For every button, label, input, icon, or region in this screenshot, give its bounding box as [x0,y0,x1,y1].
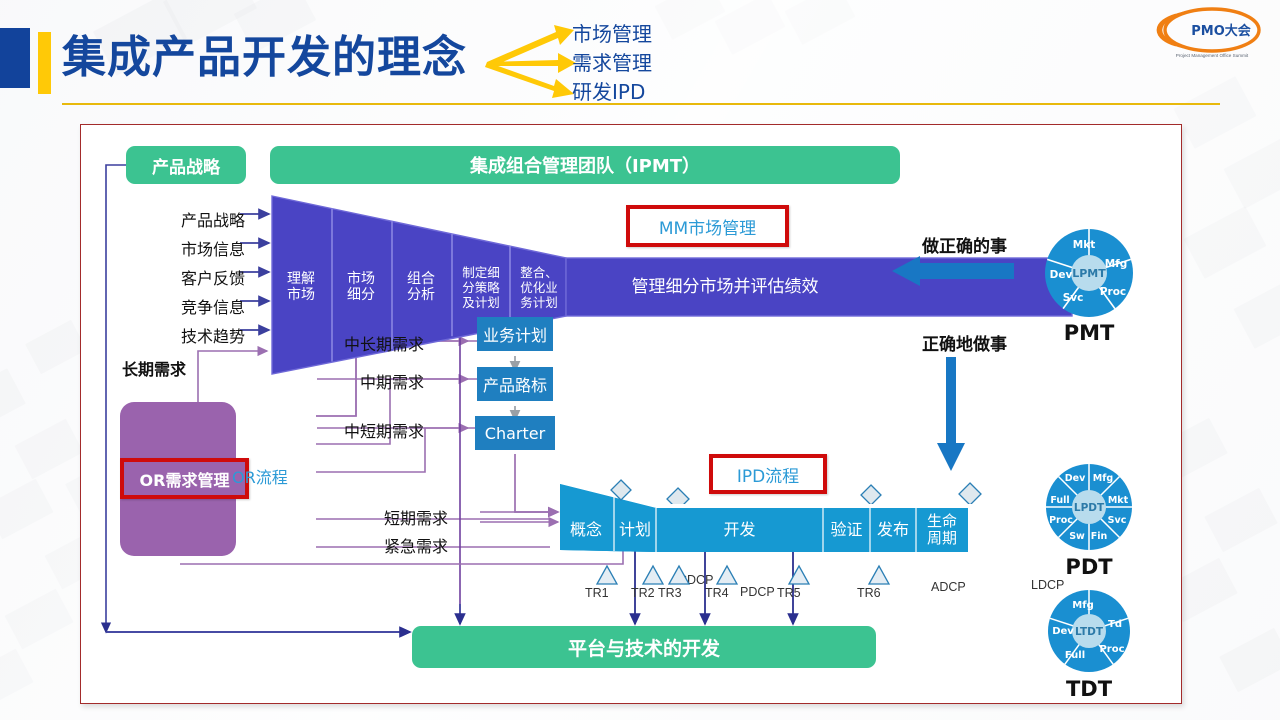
or-callout-label: OR需求管理 [140,467,230,491]
platform-technology-bar[interactable]: 平台与技术的开发 [412,626,876,668]
mm-input-3: 竞争信息 [135,293,245,322]
doc-business-plan-label: 业务计划 [483,322,547,346]
tr-label-0: TR1 [585,586,609,600]
mm-callout-box[interactable]: MM市场管理 [626,205,789,247]
arrow-down-big [935,355,967,475]
or-callout[interactable]: OR需求管理 [120,458,249,499]
arrow-left-big [890,255,1016,287]
doc-charter-label: Charter [485,424,545,443]
mm-input-0: 产品战略 [135,206,245,235]
header-yellow-bar [38,32,51,94]
tdt-seg-3: Full [1065,650,1085,661]
header-bullet-0: 市场管理 [572,20,652,49]
logo-mark-text: PMO大会 [1191,23,1252,39]
diagram-stage: 产品战略 集成组合管理团队（IPMT） 产品战略 市场信息 客户反馈 竞争信息 … [80,124,1180,702]
tdt-seg-1: Td [1108,619,1122,630]
pmt-wheel-graphic: LPMT Mkt Mfg Proc Svc Dev [1030,228,1148,318]
tdt-seg-2: Proc [1099,644,1124,655]
logo-subtitle-text: Project Management Office Summit [1176,53,1249,58]
product-strategy-label: 产品战略 [152,153,220,178]
ipmt-bar[interactable]: 集成组合管理团队（IPMT） [270,146,900,184]
tdt-name-label: TDT [1030,677,1148,701]
pdt-seg-0: Dev [1065,473,1086,484]
team-wheel-pmt[interactable]: LPMT Mkt Mfg Proc Svc Dev PMT [1030,228,1148,345]
pmt-seg-4: Dev [1050,269,1073,281]
tdt-seg-0: Mfg [1072,600,1093,611]
pmo-summit-logo: PMO大会 Project Management Office Summit [1148,4,1274,62]
mm-input-labels: 产品战略 市场信息 客户反馈 竞争信息 技术趋势 [135,206,245,351]
doc-product-roadmap-label: 产品路标 [483,372,547,396]
demand-label-4: 紧急需求 [384,533,448,557]
header-arrow-group [484,18,580,110]
demand-label-2: 中短期需求 [344,418,424,442]
note-do-things-right: 正确地做事 [922,330,1007,355]
ipmt-label: 集成组合管理团队（IPMT） [470,152,700,178]
pdt-seg-4: Fin [1091,531,1108,542]
or-flow-label: OR流程 [232,464,288,488]
header-bullet-1: 需求管理 [572,49,652,78]
header-blue-block [0,28,30,88]
team-wheel-pdt[interactable]: LPDT Dev Mfg Mkt Svc Fin Sw Proc Full PD… [1030,462,1148,579]
pmt-name-label: PMT [1030,321,1148,345]
demand-label-1: 中期需求 [360,369,424,393]
tr-label-3: TR4 [705,586,729,600]
team-wheel-tdt[interactable]: LTDT Mfg Td Proc Full Dev TDT [1030,588,1148,701]
pdt-seg-3: Svc [1108,515,1127,526]
pdt-seg-5: Sw [1069,531,1085,542]
note-do-right-things: 做正确的事 [922,232,1007,257]
tr-label-1: TR2 [631,586,655,600]
pdt-seg-2: Mkt [1108,495,1129,506]
doc-product-roadmap[interactable]: 产品路标 [477,367,553,401]
mm-input-2: 客户反馈 [135,264,245,293]
platform-technology-label: 平台与技术的开发 [568,634,720,661]
header-bullet-2: 研发IPD [572,78,652,107]
mm-callout-label: MM市场管理 [659,214,756,239]
tdt-center-label: LTDT [1075,626,1104,638]
pmt-center-label: LPMT [1072,267,1106,280]
page-title: 集成产品开发的理念 [62,28,467,88]
tr-label-5: TR6 [857,586,881,600]
demand-label-3: 短期需求 [384,505,448,529]
pdt-seg-1: Mfg [1093,473,1113,484]
long-term-demand-label: 长期需求 [122,356,186,380]
tdt-seg-4: Dev [1052,626,1074,637]
doc-business-plan[interactable]: 业务计划 [477,317,553,351]
mm-input-1: 市场信息 [135,235,245,264]
tdt-wheel-graphic: LTDT Mfg Td Proc Full Dev [1030,588,1148,674]
header-bullet-list: 市场管理 需求管理 研发IPD [572,20,652,107]
pdt-seg-7: Full [1050,495,1069,506]
product-strategy-bar[interactable]: 产品战略 [126,146,246,184]
pdt-name-label: PDT [1030,555,1148,579]
pdt-center-label: LPDT [1074,502,1105,514]
pmt-seg-3: Svc [1063,292,1084,304]
pdt-wheel-graphic: LPDT Dev Mfg Mkt Svc Fin Sw Proc Full [1030,462,1148,552]
demand-label-0: 中长期需求 [344,331,424,355]
pmt-seg-0: Mkt [1073,239,1095,251]
doc-charter[interactable]: Charter [475,416,555,450]
tr-label-4: TR5 [777,586,801,600]
tr-label-2: TR3 [658,586,682,600]
pmt-seg-2: Proc [1100,286,1126,298]
pdt-seg-6: Proc [1049,515,1073,526]
mm-input-4: 技术趋势 [135,322,245,351]
pmt-seg-1: Mfg [1105,258,1128,270]
